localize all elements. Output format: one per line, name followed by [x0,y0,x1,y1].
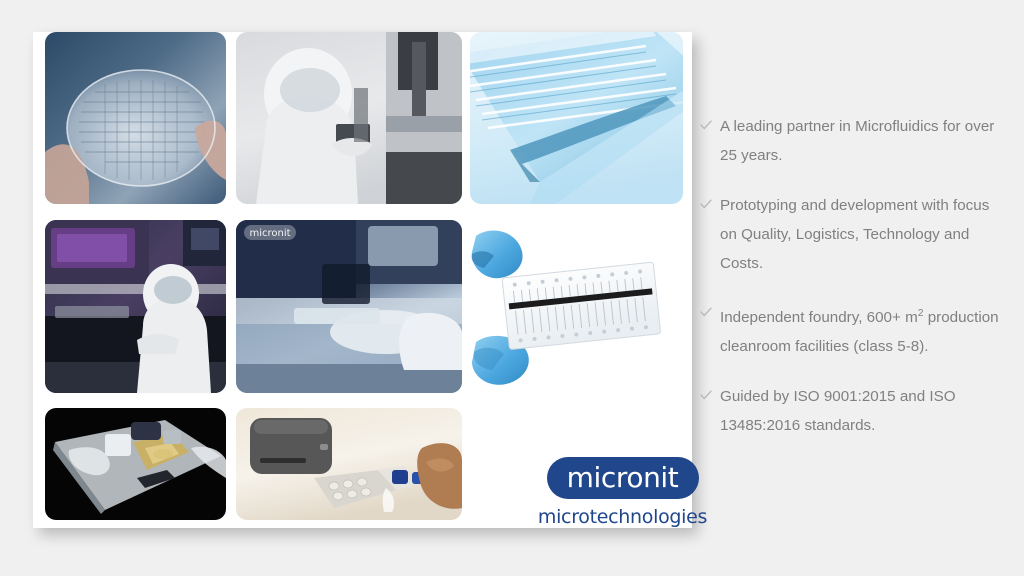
collage-tile-cleanroom-inspection[interactable] [236,32,462,204]
lab-sample-handling-photo [236,408,462,520]
micronit-tagline: microtechnologies [530,506,715,528]
check-icon [700,306,712,318]
collage-tile-wafer-in-hands[interactable] [45,32,226,204]
bullet-text-before: Independent foundry, 600+ m [720,309,918,326]
microfluidic-cartridge-device-photo [45,408,226,520]
bullet-text: Prototyping and development with focus o… [720,197,989,272]
bullet-text: A leading partner in Microfluidics for o… [720,118,994,164]
bullet-item-leading-partner: A leading partner in Microfluidics for o… [700,112,1010,170]
content-card: micronit [33,32,692,528]
silicon-wafer-in-gloved-hands-photo [45,32,226,204]
slide-canvas: micronit [0,0,1024,576]
chip-assembly-station-photo: micronit [236,220,462,393]
bullet-item-foundry: Independent foundry, 600+ m2 production … [700,299,1010,361]
collage-tile-production-machine[interactable] [45,220,226,393]
check-icon [700,198,712,210]
collage-tile-glass-chip-closeup[interactable] [470,32,683,204]
micronit-watermark-icon: micronit [244,225,296,240]
collage-tile-chip-in-blue-gloves[interactable] [470,220,683,393]
bullet-item-prototyping: Prototyping and development with focus o… [700,191,1010,278]
check-icon [700,389,712,401]
collage-tile-assembly-station[interactable]: micronit [236,220,462,393]
glass-microfluidic-chip-closeup-photo [470,32,683,204]
collage-tile-cartridge-device[interactable] [45,408,226,520]
micronit-wordmark: micronit [547,457,699,499]
cleanroom-operator-microscope-photo [236,32,462,204]
key-facts-list: A leading partner in Microfluidics for o… [700,112,1010,440]
micronit-logo: micronit microtechnologies [530,457,715,533]
image-collage: micronit [45,32,683,528]
svg-text:micronit: micronit [249,228,290,239]
collage-tile-lab-sample-handling[interactable] [236,408,462,520]
bullet-item-iso-standards: Guided by ISO 9001:2015 and ISO 13485:20… [700,382,1010,440]
cleanroom-production-equipment-photo [45,220,226,393]
microfluidic-chip-held-by-gloves-photo [470,220,683,393]
bullet-text: Guided by ISO 9001:2015 and ISO 13485:20… [720,388,956,434]
check-icon [700,119,712,131]
